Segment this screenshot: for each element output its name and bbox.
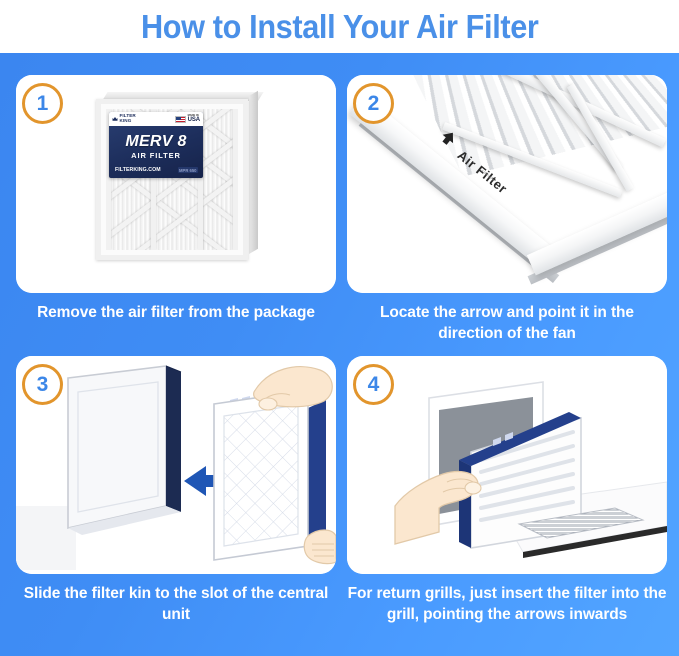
step-card-4: 4 For return grills, just insert the fil… bbox=[347, 356, 667, 625]
step-3-artwork bbox=[16, 356, 336, 574]
usa-text: USA bbox=[188, 117, 200, 123]
infographic-root: How to Install Your Air Filter bbox=[0, 0, 679, 656]
step-number-badge-1: 1 bbox=[22, 83, 63, 124]
step-caption-1: Remove the air filter from the package bbox=[16, 303, 336, 324]
step-number-badge-2: 2 bbox=[353, 83, 394, 124]
step-card-2: Air Filter AIRFLOW 2 Locate the arrow an… bbox=[347, 75, 667, 344]
title-band: How to Install Your Air Filter bbox=[0, 0, 679, 53]
product-type: AIR FILTER bbox=[109, 151, 203, 160]
step-1-image-card: FILTER KING bbox=[16, 75, 336, 293]
filter-king-logo: FILTER KING bbox=[112, 114, 136, 123]
step-number-badge-4: 4 bbox=[353, 364, 394, 405]
filter-right-edge bbox=[249, 91, 258, 254]
central-unit-housing bbox=[68, 366, 181, 535]
air-filter-corner-photo: Air Filter AIRFLOW bbox=[365, 75, 667, 293]
step-4-image-card bbox=[347, 356, 667, 574]
step-caption-4: For return grills, just insert the filte… bbox=[347, 584, 667, 625]
brand-line-2: KING bbox=[120, 118, 132, 123]
filter-face: FILTER KING bbox=[96, 99, 248, 260]
step-card-3: 3 Slide the filter kin to the slot of th… bbox=[16, 356, 336, 625]
label-header-strip: FILTER KING bbox=[109, 112, 203, 126]
mpr-rating: MPR 650 bbox=[178, 167, 198, 173]
air-filter-photo: FILTER KING bbox=[96, 92, 258, 260]
step-3-image-card bbox=[16, 356, 336, 574]
slide-filter-illustration bbox=[16, 356, 336, 574]
step-4-artwork bbox=[347, 356, 667, 574]
crown-icon bbox=[112, 116, 118, 122]
steps-grid: FILTER KING bbox=[0, 53, 679, 656]
hand-lower bbox=[304, 530, 336, 564]
return-grill-illustration bbox=[347, 356, 667, 574]
step-2-artwork: Air Filter AIRFLOW bbox=[347, 75, 667, 293]
page-title: How to Install Your Air Filter bbox=[141, 8, 539, 46]
step-1-artwork: FILTER KING bbox=[16, 75, 336, 293]
step-caption-3: Slide the filter kin to the slot of the … bbox=[16, 584, 336, 625]
step-2-image-card: Air Filter AIRFLOW bbox=[347, 75, 667, 293]
usa-flag-icon bbox=[175, 116, 186, 123]
filter-product-label: FILTER KING bbox=[109, 112, 203, 178]
made-in-usa-mark: MADE IN USA bbox=[175, 115, 200, 124]
brand-website: FILTERKING.COM bbox=[115, 167, 161, 173]
step-number-badge-3: 3 bbox=[22, 364, 63, 405]
merv-rating: MERV 8 bbox=[109, 133, 203, 151]
floor-shadow bbox=[16, 506, 76, 570]
step-card-1: FILTER KING bbox=[16, 75, 336, 324]
step-caption-2: Locate the arrow and point it in the dir… bbox=[347, 303, 667, 344]
